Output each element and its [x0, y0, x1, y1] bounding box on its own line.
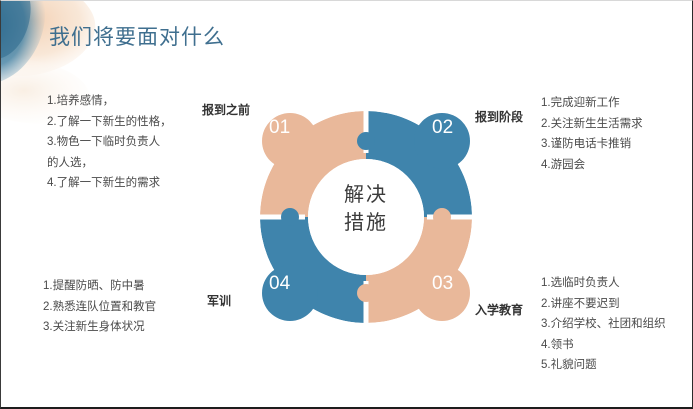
knob-bottom: [357, 284, 375, 302]
list-item: 2.关注新生生活需求: [541, 114, 643, 135]
slide-canvas: 我们将要面对什么: [0, 0, 693, 409]
list-item: 1.选临时负责人: [541, 273, 666, 294]
list-item: 2.了解一下新生的性格，: [47, 112, 172, 133]
list-item: 的人选，: [47, 153, 172, 174]
page-title: 我们将要面对什么: [49, 21, 225, 51]
list-item: 3.关注新生身体状况: [43, 317, 156, 338]
knob-top: [357, 132, 375, 150]
segment-caption-04: 军训: [207, 292, 231, 309]
list-item: 5.礼貌问题: [541, 355, 666, 376]
detail-list-03: 1.选临时负责人 2.讲座不要迟到 3.介绍学校、社团和组织 4.领书 5.礼貌…: [541, 273, 666, 376]
puzzle-donut-diagram: 解决 措施 01 02 03 04: [235, 93, 497, 341]
segment-caption-02: 报到阶段: [475, 108, 523, 125]
detail-list-01: 1.培养感情， 2.了解一下新生的性格， 3.物色一下临时负责人 的人选， 4.…: [47, 91, 172, 194]
list-item: 1.培养感情，: [47, 91, 172, 112]
detail-list-02: 1.完成迎新工作 2.关注新生生活需求 3.谨防电话卡推销 4.游园会: [541, 93, 643, 175]
knob-left: [281, 208, 299, 226]
detail-list-04: 1.提醒防晒、防中暑 2.熟悉连队位置和教官 3.关注新生身体状况: [43, 276, 156, 338]
list-item: 2.熟悉连队位置和教官: [43, 297, 156, 318]
list-item: 3.谨防电话卡推销: [541, 134, 643, 155]
list-item: 2.讲座不要迟到: [541, 294, 666, 315]
knob-right: [433, 208, 451, 226]
segment-caption-03: 入学教育: [475, 301, 523, 318]
list-item: 1.完成迎新工作: [541, 93, 643, 114]
list-item: 1.提醒防晒、防中暑: [43, 276, 156, 297]
segment-caption-01: 报到之前: [202, 101, 250, 118]
list-item: 4.领书: [541, 335, 666, 356]
list-item: 3.物色一下临时负责人: [47, 132, 172, 153]
list-item: 4.游园会: [541, 155, 643, 176]
list-item: 4.了解一下新生的需求: [47, 173, 172, 194]
list-item: 3.介绍学校、社团和组织: [541, 314, 666, 335]
